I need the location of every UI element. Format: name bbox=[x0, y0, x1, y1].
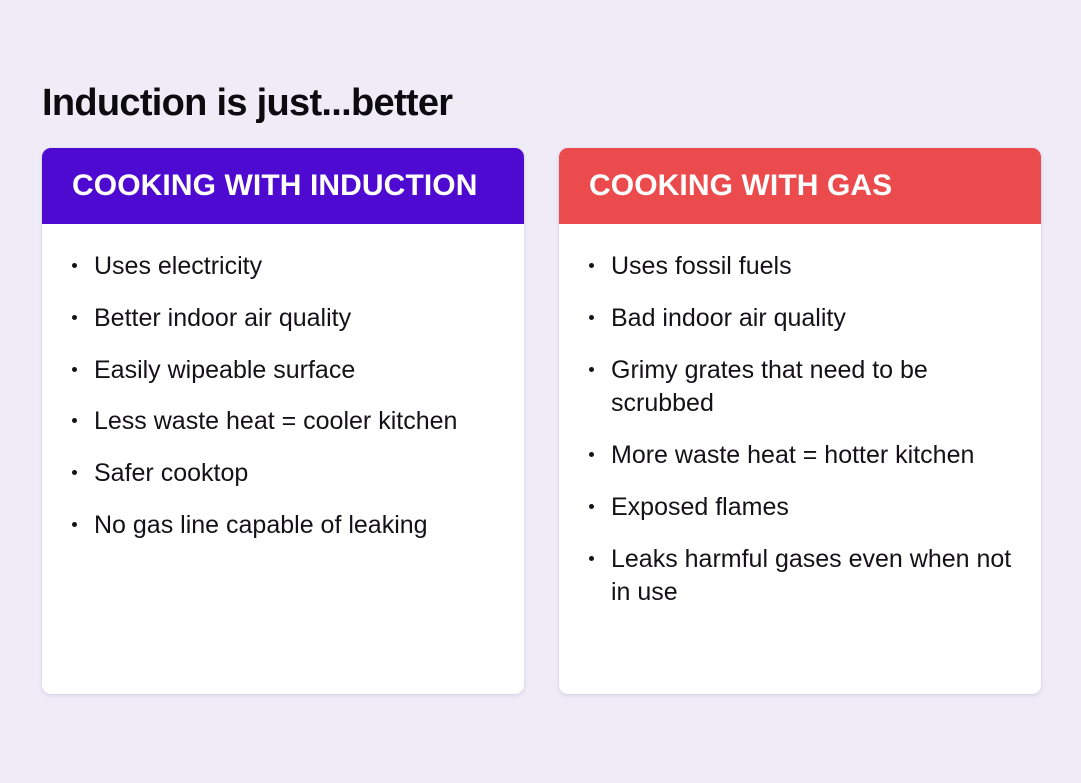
card-body-gas: Uses fossil fuels Bad indoor air quality… bbox=[559, 224, 1041, 694]
bullet-list-gas: Uses fossil fuels Bad indoor air quality… bbox=[585, 250, 1015, 610]
list-item-label: No gas line capable of leaking bbox=[94, 511, 428, 539]
card-header-gas: COOKING WITH GAS bbox=[559, 148, 1041, 224]
bullet-dot-icon bbox=[72, 367, 77, 372]
card-header-title-gas: COOKING WITH GAS bbox=[589, 171, 892, 201]
list-item: More waste heat = hotter kitchen bbox=[585, 439, 1015, 473]
list-item-label: Better indoor air quality bbox=[94, 304, 351, 332]
list-item-label: Uses electricity bbox=[94, 252, 262, 280]
bullet-dot-icon bbox=[589, 452, 594, 457]
list-item-label: Easily wipeable surface bbox=[94, 356, 355, 384]
list-item: No gas line capable of leaking bbox=[68, 509, 498, 543]
bullet-dot-icon bbox=[589, 315, 594, 320]
bullet-dot-icon bbox=[589, 504, 594, 509]
bullet-dot-icon bbox=[589, 263, 594, 268]
list-item: Exposed flames bbox=[585, 491, 1015, 525]
list-item-label: Uses fossil fuels bbox=[611, 252, 792, 280]
list-item-label: Leaks harmful gases even when not in use bbox=[611, 545, 1011, 607]
list-item-label: More waste heat = hotter kitchen bbox=[611, 441, 974, 469]
list-item: Easily wipeable surface bbox=[68, 354, 498, 388]
comparison-cards: COOKING WITH INDUCTION Uses electricity … bbox=[42, 148, 1041, 694]
comparison-card-gas: COOKING WITH GAS Uses fossil fuels Bad i… bbox=[559, 148, 1041, 694]
list-item: Safer cooktop bbox=[68, 457, 498, 491]
list-item-label: Less waste heat = cooler kitchen bbox=[94, 407, 457, 435]
bullet-dot-icon bbox=[72, 315, 77, 320]
list-item: Leaks harmful gases even when not in use bbox=[585, 543, 1015, 611]
list-item: Grimy grates that need to be scrubbed bbox=[585, 354, 1015, 422]
list-item: Better indoor air quality bbox=[68, 302, 498, 336]
bullet-dot-icon bbox=[72, 263, 77, 268]
bullet-dot-icon bbox=[589, 367, 594, 372]
bullet-dot-icon bbox=[72, 470, 77, 475]
list-item: Uses electricity bbox=[68, 250, 498, 284]
list-item: Less waste heat = cooler kitchen bbox=[68, 405, 498, 439]
list-item-label: Grimy grates that need to be scrubbed bbox=[611, 356, 928, 418]
list-item: Uses fossil fuels bbox=[585, 250, 1015, 284]
card-header-title-induction: COOKING WITH INDUCTION bbox=[72, 171, 478, 201]
list-item-label: Bad indoor air quality bbox=[611, 304, 846, 332]
bullet-dot-icon bbox=[589, 556, 594, 561]
list-item-label: Exposed flames bbox=[611, 493, 789, 521]
list-item-label: Safer cooktop bbox=[94, 459, 248, 487]
bullet-list-induction: Uses electricity Better indoor air quali… bbox=[68, 250, 498, 543]
bullet-dot-icon bbox=[72, 522, 77, 527]
page-title: Induction is just...better bbox=[42, 83, 452, 125]
card-body-induction: Uses electricity Better indoor air quali… bbox=[42, 224, 524, 694]
bullet-dot-icon bbox=[72, 418, 77, 423]
card-header-induction: COOKING WITH INDUCTION bbox=[42, 148, 524, 224]
list-item: Bad indoor air quality bbox=[585, 302, 1015, 336]
comparison-card-induction: COOKING WITH INDUCTION Uses electricity … bbox=[42, 148, 524, 694]
infographic-page: Induction is just...better COOKING WITH … bbox=[0, 0, 1081, 783]
